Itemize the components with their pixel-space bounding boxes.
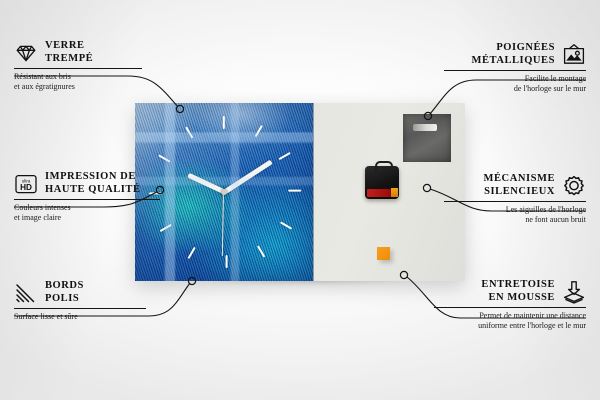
- hanger-plate: [403, 114, 451, 162]
- feature-description: Permet de maintenir une distance uniform…: [434, 311, 586, 330]
- infographic-canvas: VERRE TREMPÉ Résistant aux bris et aux é…: [0, 0, 600, 400]
- feature-description: Surface lisse et sûre: [14, 312, 146, 322]
- clock-center-cap: [221, 189, 227, 195]
- feature-divider: [14, 308, 146, 309]
- feature-header: BORDS POLIS: [14, 280, 146, 305]
- feature-description: Les aiguilles de l'horloge ne font aucun…: [444, 205, 586, 224]
- feature-description: Résistant aux bris et aux égratignures: [14, 72, 142, 91]
- gear-icon: [562, 174, 586, 198]
- feature-divider: [444, 201, 586, 202]
- feature-title: BORDS POLIS: [45, 280, 84, 305]
- feature-description: Couleurs intenses et image claire: [14, 203, 160, 222]
- feature-header: POIGNÉES MÉTALLIQUES: [444, 42, 586, 67]
- feature-divider: [14, 199, 160, 200]
- feature-entretoise-en-mousse: ENTRETOISE EN MOUSSE Permet de maintenir…: [434, 279, 586, 330]
- feature-header: ultra HD IMPRESSION DE HAUTE QUALITÉ: [14, 171, 160, 196]
- clock-mechanism: [365, 166, 399, 199]
- feature-bords-polis: BORDS POLIS Surface lisse et sûre: [14, 280, 146, 322]
- svg-text:HD: HD: [20, 183, 32, 192]
- feature-title: MÉCANISME SILENCIEUX: [484, 173, 555, 198]
- feature-title: ENTRETOISE EN MOUSSE: [481, 279, 555, 304]
- feature-title: IMPRESSION DE HAUTE QUALITÉ: [45, 171, 141, 196]
- feature-verre-trempe: VERRE TREMPÉ Résistant aux bris et aux é…: [14, 40, 142, 91]
- ultra-hd-icon: ultra HD: [14, 172, 38, 196]
- feature-title: POIGNÉES MÉTALLIQUES: [472, 42, 555, 67]
- feature-title: VERRE TREMPÉ: [45, 40, 93, 65]
- feature-header: ENTRETOISE EN MOUSSE: [434, 279, 586, 304]
- feature-impression-haute-qualite: ultra HD IMPRESSION DE HAUTE QUALITÉ Cou…: [14, 171, 160, 222]
- feature-description: Facilite le montage de l'horloge sur le …: [444, 74, 586, 93]
- battery: [367, 189, 397, 197]
- diamond-icon: [14, 41, 38, 65]
- feature-header: MÉCANISME SILENCIEUX: [444, 173, 586, 198]
- feature-divider: [14, 68, 142, 69]
- feature-divider: [434, 307, 586, 308]
- product-image: [135, 103, 465, 281]
- polished-edge-icon: [14, 281, 38, 305]
- arrow-down-stack-icon: [562, 280, 586, 304]
- clock-back-panel: [313, 103, 465, 281]
- feature-poignees-metalliques: POIGNÉES MÉTALLIQUES Facilite le montage…: [444, 42, 586, 93]
- picture-frame-hanger-icon: [562, 43, 586, 67]
- feature-header: VERRE TREMPÉ: [14, 40, 142, 65]
- feature-mecanisme-silencieux: MÉCANISME SILENCIEUX Les aiguilles de l'…: [444, 173, 586, 224]
- foam-spacer: [377, 247, 390, 260]
- feature-divider: [444, 70, 586, 71]
- clock-front-face: [135, 103, 313, 281]
